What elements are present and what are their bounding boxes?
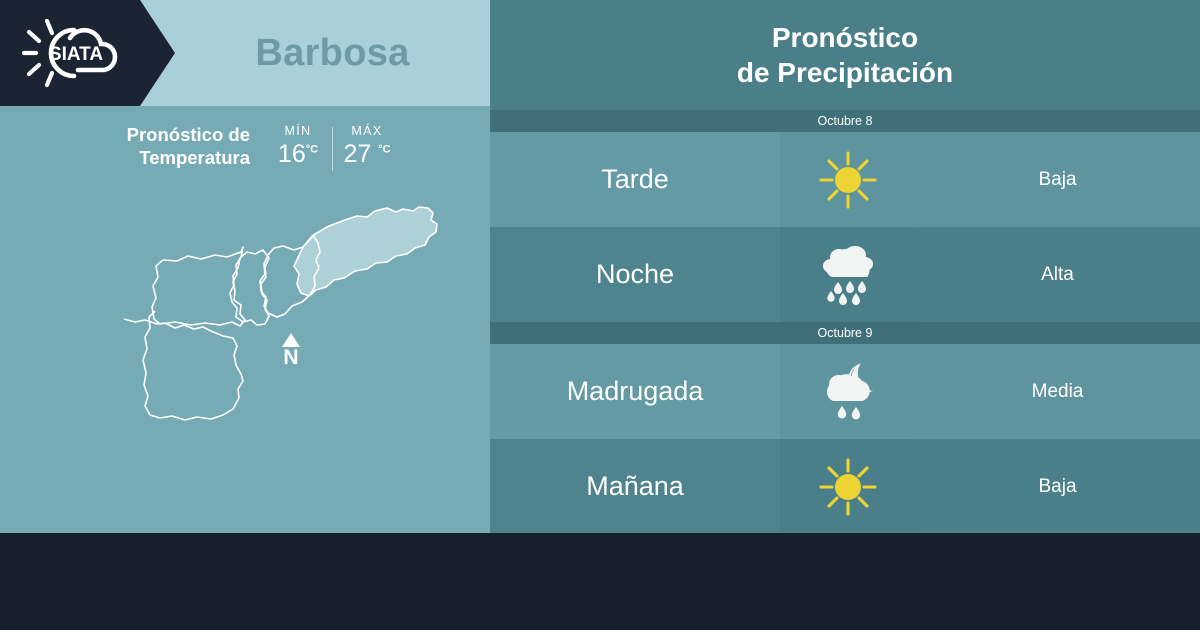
left-header-band: SIATA Barbosa — [0, 0, 490, 106]
temperature-min-unit: °C — [306, 144, 318, 156]
map-region-copacabana — [230, 250, 269, 325]
cloud-heavy-rain-icon-svg — [815, 243, 881, 307]
date-header-october-9: Octubre 9 — [490, 322, 1200, 344]
sun-icon-svg — [817, 456, 879, 518]
siata-logo: SIATA — [16, 14, 136, 92]
forecast-level-label: Alta — [915, 227, 1200, 322]
footer: @siatamedellin www.siata.gov.co Con el a… — [0, 533, 1200, 630]
forecast-title: Pronóstico de Precipitación — [490, 0, 1200, 110]
forecast-period-label: Mañana — [490, 439, 780, 534]
temperature-min-value: 16°C — [264, 140, 332, 169]
forecast-row-madrugada: Madrugada Media — [490, 344, 1200, 439]
forecast-period-label: Madrugada — [490, 344, 780, 439]
temperature-title-line2: Temperatura — [139, 147, 250, 168]
north-arrow-icon — [282, 333, 300, 347]
map-region-barbosa — [294, 207, 437, 296]
temperature-max: MÁX 27 °C — [333, 124, 401, 169]
temperature-summary: Pronóstico de Temperatura MÍN 16°C MÁX 2… — [82, 124, 412, 184]
sun-icon-svg — [817, 149, 879, 211]
forecast-row-manana: Mañana Baja — [490, 439, 1200, 534]
forecast-period-label: Tarde — [490, 132, 780, 227]
city-name: Barbosa — [175, 0, 490, 106]
moon-cloud-rain-icon — [780, 344, 915, 439]
date-header-october-8: Octubre 8 — [490, 110, 1200, 132]
temperature-title-line1: Pronóstico de — [127, 124, 250, 145]
forecast-level-label: Media — [915, 344, 1200, 439]
aburra-valley-map — [60, 180, 460, 530]
temperature-title: Pronóstico de Temperatura — [82, 124, 264, 169]
temperature-max-label: MÁX — [333, 124, 401, 138]
north-arrow: N — [278, 333, 304, 379]
moon-cloud-rain-icon-svg — [815, 361, 881, 423]
weather-forecast-infographic: SIATA Barbosa Pronóstico de Temperatura … — [0, 0, 1200, 630]
temperature-max-value: 27 °C — [333, 140, 401, 169]
temperature-min-label: MÍN — [264, 124, 332, 138]
map-svg — [60, 180, 460, 530]
forecast-level-label: Baja — [915, 439, 1200, 534]
sun-icon — [780, 132, 915, 227]
temperature-min: MÍN 16°C — [264, 124, 332, 169]
temperature-panel: SIATA Barbosa Pronóstico de Temperatura … — [0, 0, 490, 533]
map-region-medellin — [124, 311, 243, 420]
siata-logo-badge: SIATA — [0, 0, 175, 106]
cloud-heavy-rain-icon — [780, 227, 915, 322]
forecast-row-noche: Noche Alta — [490, 227, 1200, 322]
siata-logo-text: SIATA — [49, 44, 103, 65]
forecast-period-label: Noche — [490, 227, 780, 322]
map-region-bello — [152, 247, 245, 326]
forecast-title-line1: Pronóstico — [772, 20, 918, 55]
north-letter: N — [278, 347, 304, 369]
forecast-level-label: Baja — [915, 132, 1200, 227]
sun-icon — [780, 439, 915, 534]
forecast-row-tarde: Tarde Baja — [490, 132, 1200, 227]
temperature-max-unit: °C — [378, 144, 390, 156]
forecast-title-line2: de Precipitación — [737, 55, 953, 90]
